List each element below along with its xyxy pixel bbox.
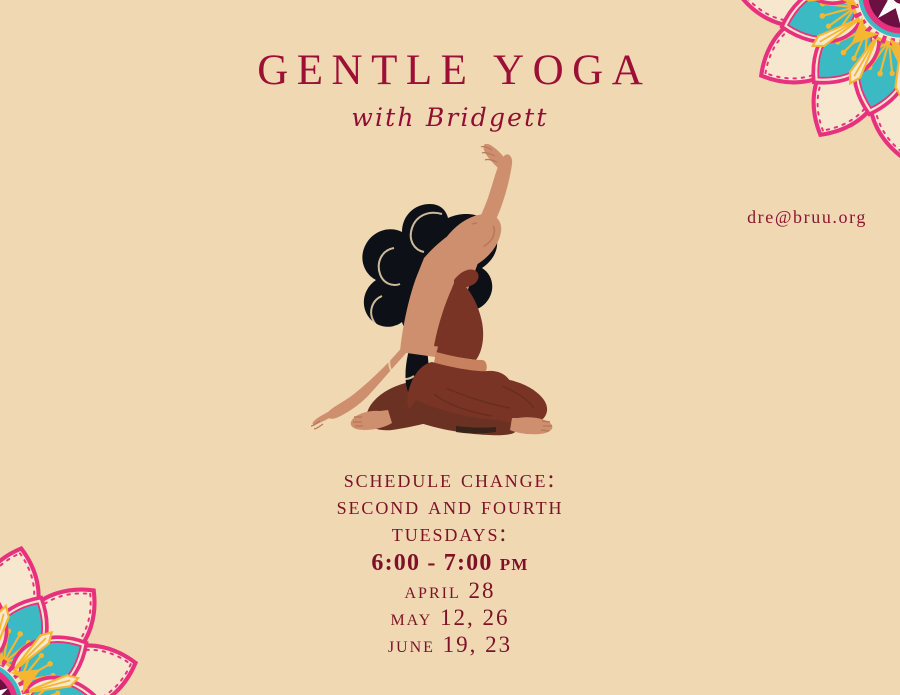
- schedule-date: JUNE 19, 23: [0, 631, 900, 658]
- yoga-figure-illustration: [296, 138, 596, 446]
- mandala-rings: [850, 0, 900, 46]
- schedule-time: 6:00 - 7:00 PM: [0, 550, 900, 577]
- schedule-line: SCHEDULE CHANGE:: [0, 466, 900, 493]
- schedule-line: TUESDAYS:: [0, 520, 900, 547]
- page-title: GENTLE YOGA: [0, 48, 900, 93]
- title-block: GENTLE YOGA with Bridgett: [0, 48, 900, 132]
- contact-email[interactable]: dre@bruu.org: [747, 207, 867, 228]
- poster-canvas: GENTLE YOGA with Bridgett dre@bruu.org: [0, 0, 900, 695]
- page-subtitle: with Bridgett: [0, 104, 900, 132]
- mandala-center-star: [868, 0, 900, 28]
- schedule-line: SECOND AND FOURTH: [0, 493, 900, 520]
- schedule-date: APRIL 28: [0, 577, 900, 604]
- schedule-date: MAY 12, 26: [0, 604, 900, 631]
- schedule-block: SCHEDULE CHANGE: SECOND AND FOURTH TUESD…: [0, 466, 900, 658]
